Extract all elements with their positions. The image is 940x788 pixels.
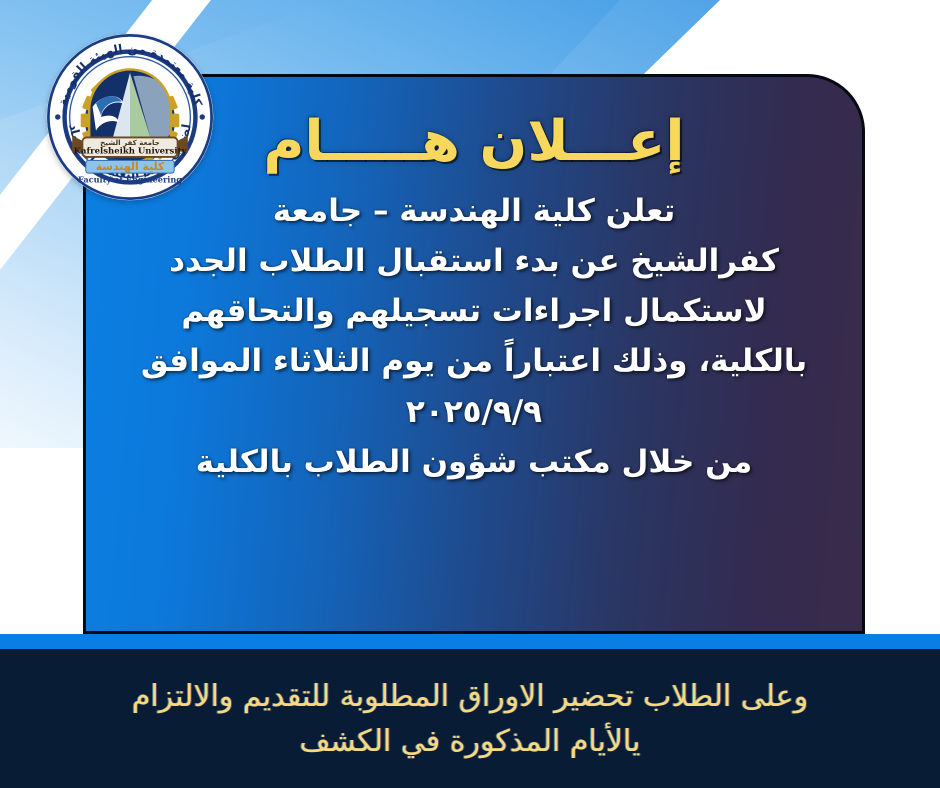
separator-band <box>0 634 940 649</box>
announcement-date: ٢٠٢٥/٩/٩ <box>132 387 816 437</box>
logo-university-plaque: جامعة كفر الشيخ Kafrelsheikh University <box>72 136 188 157</box>
announcement-line-3: لاستكمال اجراءات تسجيلهم والتحاقهم <box>132 286 816 336</box>
svg-text:Faculty of Engineering: Faculty of Engineering <box>78 174 182 184</box>
footer-line-1: وعلى الطلاب تحضير الاوراق المطلوبة للتقد… <box>132 674 808 719</box>
background-white-bottom-left <box>0 448 86 648</box>
footer-line-2: يالأيام المذكورة في الكشف <box>132 719 808 764</box>
university-logo: كلية معتمدة من الهيئة القومية لضمان جودة… <box>45 32 215 202</box>
footer-bar: وعلى الطلاب تحضير الاوراق المطلوبة للتقد… <box>0 649 940 788</box>
svg-text:Kafrelsheikh University: Kafrelsheikh University <box>74 147 188 157</box>
announcement-poster: إعـــلان هـــــام تعلن كلية الهندسة – جا… <box>0 0 940 788</box>
svg-text:كلية الهندسة: كلية الهندسة <box>96 160 165 173</box>
announcement-line-4: بالكلية، وذلك اعتباراً من يوم الثلاثاء ا… <box>132 336 816 386</box>
background-white-right <box>864 0 940 660</box>
announcement-line-6: من خلال مكتب شؤون الطلاب بالكلية <box>132 437 816 487</box>
announcement-line-1: تعلن كلية الهندسة – جامعة <box>132 186 816 236</box>
logo-faculty-ribbon: كلية الهندسة Faculty of Engineering <box>78 160 182 184</box>
announcement-body: تعلن كلية الهندسة – جامعة كفرالشيخ عن بد… <box>86 178 862 487</box>
announcement-line-2: كفرالشيخ عن بدء استقبال الطلاب الجدد <box>132 236 816 286</box>
footer-note: وعلى الطلاب تحضير الاوراق المطلوبة للتقد… <box>92 674 848 764</box>
